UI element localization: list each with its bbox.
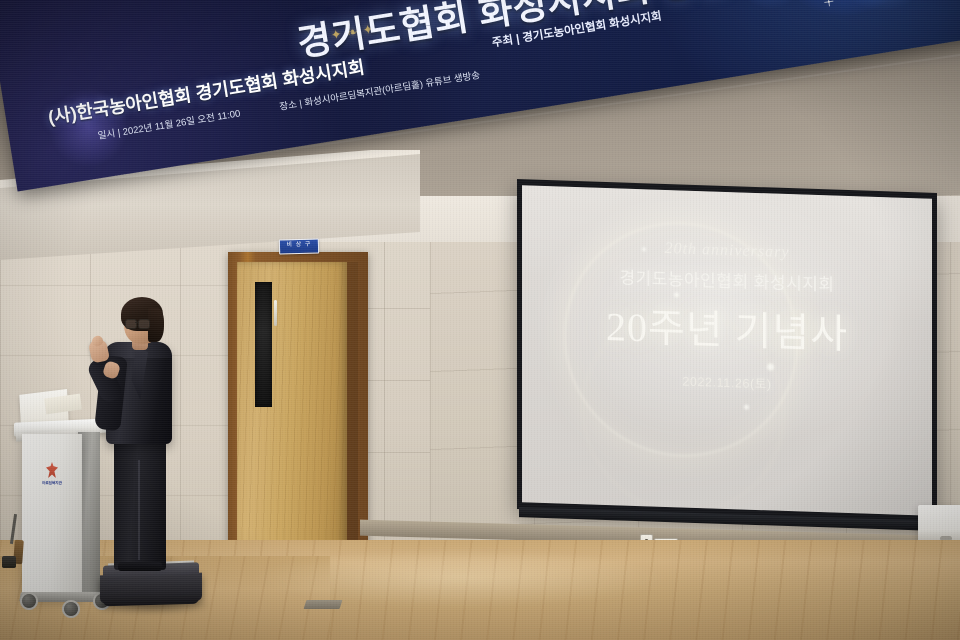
slide-sparkle — [744, 405, 749, 410]
floor-outlet-plate[interactable] — [304, 600, 343, 609]
caster-wheel-icon — [20, 592, 38, 610]
glasses-icon — [125, 319, 151, 327]
floor-reflection — [250, 548, 670, 608]
projection-screen: 20th anniversary 경기도농아인협회 화성시지회 20주년 기념사… — [517, 179, 937, 523]
exit-sign: 비 상 구 — [279, 239, 319, 255]
logo-mark-icon — [46, 462, 58, 478]
slide-content: 20th anniversary 경기도농아인협회 화성시지회 20주년 기념사… — [522, 185, 932, 398]
banner-bokeh — [730, 0, 810, 15]
photo-scene: ✦ ❧ ✦ 경기도협회 화성시지회 창립 20주년 기념식 (사)한국농아인협회… — [0, 0, 960, 640]
person-shoes — [118, 562, 162, 571]
door-vision-panel — [255, 282, 272, 407]
sign-language-interpreter — [96, 300, 188, 570]
podium-body — [22, 434, 82, 599]
slide-headline: 20주년 기념사 — [522, 291, 932, 363]
caster-wheel-icon — [62, 600, 80, 618]
floor-object — [2, 556, 16, 568]
door-wood-grain — [237, 262, 347, 574]
podium-logo: 아르딤복지관 — [40, 462, 64, 490]
door-handle[interactable] — [274, 300, 277, 326]
exit-sign-label: 비 상 구 — [280, 240, 318, 252]
person-legs — [114, 432, 166, 570]
projection-screen-surface: 20th anniversary 경기도농아인협회 화성시지회 20주년 기념사… — [522, 185, 932, 516]
podium-logo-label: 아르딤복지관 — [41, 480, 63, 485]
person-leg-seam — [138, 460, 140, 560]
